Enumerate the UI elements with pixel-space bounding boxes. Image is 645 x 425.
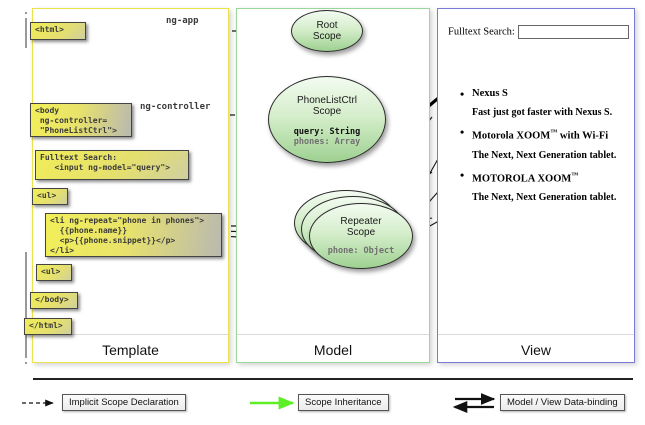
phone-name[interactable]: Nexus S [458,87,633,101]
panel-model: Model [236,8,430,363]
label-ng-app: ng-app [166,16,199,26]
panel-model-divider [237,334,429,335]
scope-root-title: RootScope [292,11,362,42]
legend-label-model-view-data-binding: Model / View Data-binding [500,394,625,411]
code-box-ul-open: <ul> [32,188,68,205]
scope-prop-phones: phones: Array [269,137,385,147]
panel-view: View Fulltext Search: Nexus S Fast just … [437,8,635,363]
code-box-html-close: </html> [24,318,72,335]
list-item: MOTOROLA XOOM™ The Next, Next Generation… [458,168,633,206]
scope-root: RootScope [291,10,363,52]
scope-prop-phone: phone: Object [310,246,412,256]
diagram-canvas: Template <html> <body ng-controller= "Ph… [0,0,645,425]
legend: Implicit Scope Declaration Scope Inherit… [0,378,645,425]
code-box-li-ng-repeat: <li ng-repeat="phone in phones"> {{phone… [45,213,222,257]
trademark-icon: ™ [571,171,578,179]
panel-view-label: View [438,342,634,358]
phone-name[interactable]: Motorola XOOM™ with Wi-Fi [458,125,633,144]
phone-snippet: The Next, Next Generation tablet. [458,191,633,205]
phone-name-text: MOTOROLA XOOM [472,173,571,184]
code-box-html-open: <html> [30,22,86,40]
list-item: Motorola XOOM™ with Wi-Fi The Next, Next… [458,125,633,163]
view-search-label: Fulltext Search: [448,26,515,37]
scope-repeater: RepeaterScope phone: Object [309,203,413,269]
list-item: Nexus S Fast just got faster with Nexus … [458,87,633,120]
panel-view-divider [438,334,634,335]
code-box-body-open: <body ng-controller= "PhoneListCtrl"> [30,103,132,137]
legend-label-implicit-scope-declaration: Implicit Scope Declaration [62,394,186,411]
phone-list: Nexus S Fast just got faster with Nexus … [458,87,633,210]
phone-snippet: The Next, Next Generation tablet. [458,149,633,163]
panel-template: Template [32,8,229,363]
scope-prop-query: query: String [269,127,385,137]
panel-template-label: Template [33,342,228,358]
code-box-fulltext-search: Fulltext Search: <input ng-model="query"… [35,150,189,180]
scope-repeater-title: RepeaterScope [310,204,412,238]
scope-repeater-props: phone: Object [310,246,412,256]
scope-phonelistctrl-title: PhoneListCtrlScope [269,77,385,117]
code-box-ul-close: <ul> [36,264,72,281]
scope-phonelistctrl: PhoneListCtrlScope query: String phones:… [268,76,386,163]
phone-snippet: Fast just got faster with Nexus S. [458,106,633,120]
panel-model-label: Model [237,342,429,358]
phone-name-suffix: with Wi-Fi [557,131,608,142]
code-box-body-close: </body> [30,292,78,309]
phone-name[interactable]: MOTOROLA XOOM™ [458,168,633,187]
label-ng-controller: ng-controller [140,102,210,112]
view-search-row: Fulltext Search: [448,25,629,39]
scope-phonelistctrl-props: query: String phones: Array [269,127,385,147]
search-input[interactable] [518,25,629,39]
legend-label-scope-inheritance: Scope Inheritance [298,394,389,411]
phone-name-text: Motorola XOOM [472,131,550,142]
